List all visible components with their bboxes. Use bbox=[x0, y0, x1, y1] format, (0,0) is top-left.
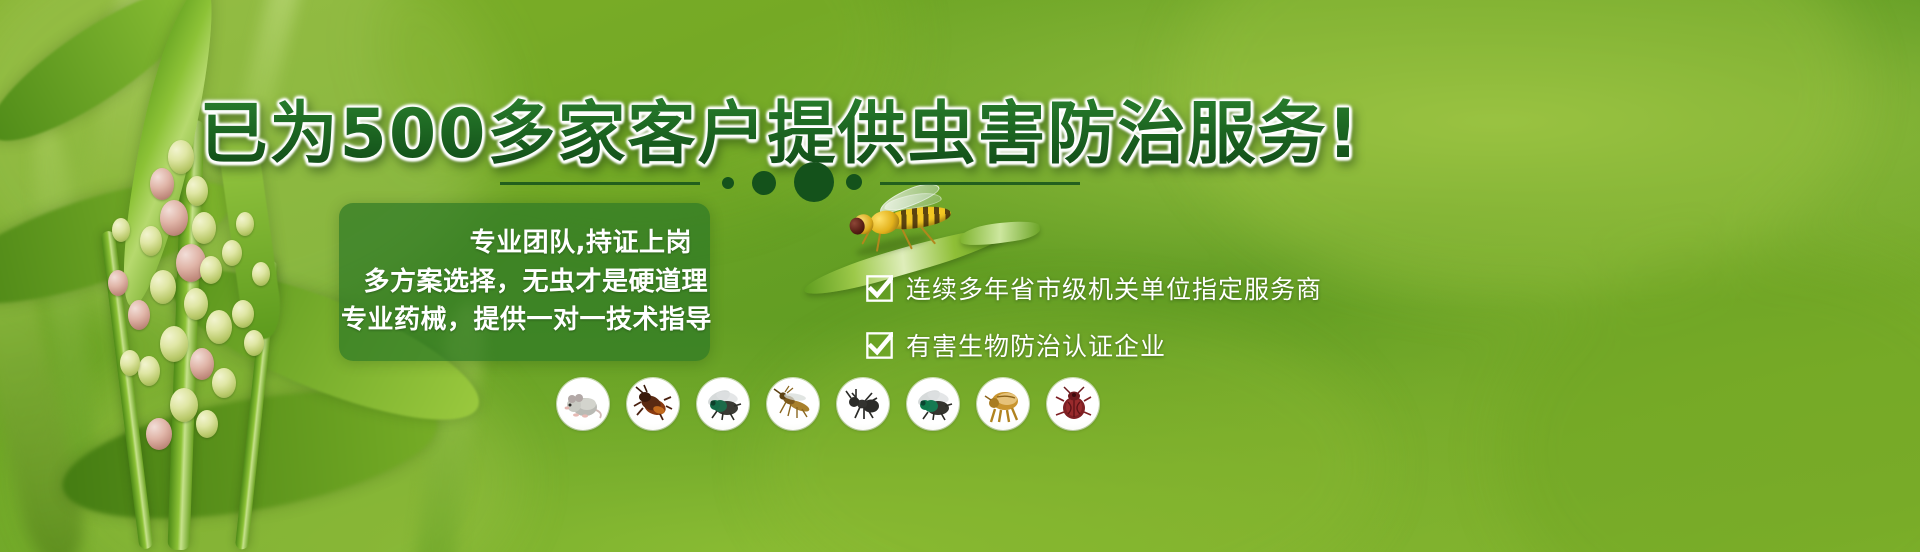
checkbox-checked-icon bbox=[866, 275, 893, 302]
list-item-label: 有害生物防治认证企业 bbox=[906, 327, 1166, 363]
deco-dot-3 bbox=[794, 162, 834, 202]
credential-list: 连续多年省市级机关单位指定服务商 有害生物防治认证企业 bbox=[866, 270, 1322, 363]
fly-icon[interactable] bbox=[697, 378, 749, 430]
slogan-panel: 专业团队,持证上岗 多方案选择，无虫才是硬道理 专业药械，提供一对一技术指导 bbox=[339, 203, 710, 361]
deco-dot-1 bbox=[722, 177, 734, 189]
slogan-line-2: 多方案选择，无虫才是硬道理 bbox=[363, 268, 708, 297]
slogan-line-1: 专业团队,持证上岗 bbox=[470, 229, 692, 258]
promo-banner: 已为500多家客户提供虫害防治服务! 专业团队,持证上岗 多方案选择，无虫才是硬… bbox=[0, 0, 1920, 552]
bedbug-icon[interactable] bbox=[1047, 378, 1099, 430]
flea-icon[interactable] bbox=[977, 378, 1029, 430]
headline-decoration bbox=[0, 160, 1560, 206]
deco-line-right bbox=[880, 182, 1080, 185]
mouse-icon[interactable] bbox=[557, 378, 609, 430]
checkbox-checked-icon bbox=[866, 332, 893, 359]
list-item-label: 连续多年省市级机关单位指定服务商 bbox=[906, 270, 1322, 306]
pest-icon-row bbox=[557, 378, 1099, 430]
list-item: 有害生物防治认证企业 bbox=[866, 327, 1322, 363]
ant-icon[interactable] bbox=[837, 378, 889, 430]
mosquito-icon[interactable] bbox=[767, 378, 819, 430]
slogan-line-3: 专业药械，提供一对一技术指导 bbox=[341, 306, 712, 335]
deco-line-left bbox=[500, 182, 700, 185]
deco-dot-4 bbox=[846, 174, 862, 190]
cockroach-icon[interactable] bbox=[627, 378, 679, 430]
list-item: 连续多年省市级机关单位指定服务商 bbox=[866, 270, 1322, 306]
greenfly-icon[interactable] bbox=[907, 378, 959, 430]
deco-dot-2 bbox=[752, 171, 776, 195]
